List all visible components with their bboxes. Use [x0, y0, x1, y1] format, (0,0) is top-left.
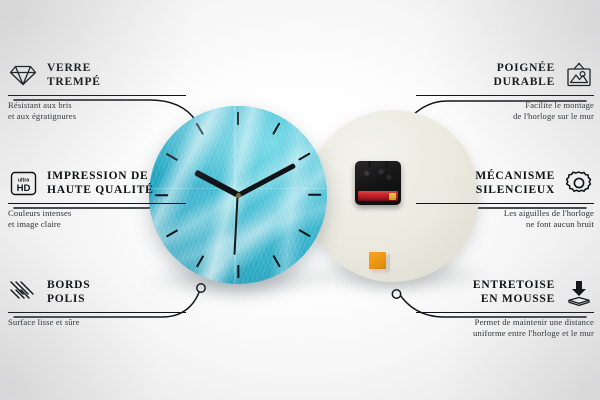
feature-description: Les aiguilles de l'horloge ne font aucun… [416, 208, 594, 230]
feature-header: POIGNÉE DURABLE [416, 58, 594, 92]
feature-title-line2: SILENCIEUX [476, 184, 555, 196]
feature-title-line1: ENTRETOISE [473, 279, 555, 291]
feature-title-line2: POLIS [47, 293, 85, 305]
feature-verre-trempe: VERRE TREMPÉ Résistant aux bris et aux é… [8, 58, 186, 122]
feature-header: BORDS POLIS [8, 275, 186, 309]
gear-icon [564, 168, 594, 198]
feature-description: Surface lisse et sûre [8, 317, 186, 328]
feature-divider [416, 312, 594, 313]
feature-title-line2: HAUTE QUALITÉ [47, 184, 154, 196]
feature-desc-line2: de l'horloge sur le mur [513, 111, 594, 121]
feature-desc-line1: Résistant aux bris [8, 100, 72, 110]
polished-edges-icon [8, 277, 38, 307]
foam-spacer [369, 252, 386, 269]
feature-bords-polis: BORDS POLIS Surface lisse et sûre [8, 275, 186, 328]
feature-poignee-durable: POIGNÉE DURABLE Facilite le montage de l… [416, 58, 594, 122]
clock-mechanism [355, 161, 401, 205]
feature-title-line1: IMPRESSION DE [47, 170, 148, 182]
feature-title-line1: BORDS [47, 279, 90, 291]
feature-desc-line2: et aux égratignures [8, 111, 76, 121]
hands-center-cap [236, 193, 241, 198]
feature-title: ENTRETOISE EN MOUSSE [473, 278, 555, 306]
feature-title-line2: DURABLE [494, 76, 555, 88]
feature-impression-hd: ultra HD IMPRESSION DE HAUTE QUALITÉ Cou… [8, 166, 186, 230]
feature-title: POIGNÉE DURABLE [494, 61, 555, 89]
feature-desc-line2: et image claire [8, 219, 61, 229]
feature-desc-line1: Permet de maintenir une distance [475, 317, 594, 327]
diamond-icon [8, 60, 38, 90]
foam-spacer-icon [564, 277, 594, 307]
feature-description: Permet de maintenir une distance uniform… [416, 317, 594, 339]
feature-desc-line1: Les aiguilles de l'horloge [504, 208, 594, 218]
feature-title-line1: POIGNÉE [497, 62, 555, 74]
battery [358, 191, 398, 201]
feature-title: MÉCANISME SILENCIEUX [475, 169, 555, 197]
feature-divider [416, 95, 594, 96]
feature-title-line2: EN MOUSSE [481, 293, 555, 305]
feature-divider [8, 312, 186, 313]
feature-divider [416, 203, 594, 204]
ultra-hd-icon: ultra HD [8, 168, 38, 198]
feature-title: IMPRESSION DE HAUTE QUALITÉ [47, 169, 154, 197]
feature-title-line2: TREMPÉ [47, 76, 101, 88]
feature-title: BORDS POLIS [47, 278, 90, 306]
feature-description: Résistant aux bris et aux égratignures [8, 100, 186, 122]
feature-mecanisme-silencieux: MÉCANISME SILENCIEUX Les aiguilles de l'… [416, 166, 594, 230]
mechanism-detail [360, 167, 394, 183]
hour-tick [237, 265, 239, 278]
feature-desc-line1: Surface lisse et sûre [8, 317, 80, 327]
infographic-canvas: VERRE TREMPÉ Résistant aux bris et aux é… [0, 0, 600, 400]
svg-text:HD: HD [16, 183, 30, 194]
feature-desc-line1: Facilite le montage [525, 100, 594, 110]
feature-header: ultra HD IMPRESSION DE HAUTE QUALITÉ [8, 166, 186, 200]
feature-header: VERRE TREMPÉ [8, 58, 186, 92]
feature-title: VERRE TREMPÉ [47, 61, 101, 89]
feature-title-line1: MÉCANISME [475, 170, 555, 182]
feature-desc-line2: uniforme entre l'horloge et le mur [473, 328, 594, 338]
feature-desc-line2: ne font aucun bruit [526, 219, 594, 229]
feature-description: Couleurs intenses et image claire [8, 208, 186, 230]
feature-description: Facilite le montage de l'horloge sur le … [416, 100, 594, 122]
hanging-frame-icon [564, 60, 594, 90]
feature-entretoise-mousse: ENTRETOISE EN MOUSSE Permet de maintenir… [416, 275, 594, 339]
feature-desc-line1: Couleurs intenses [8, 208, 71, 218]
feature-divider [8, 203, 186, 204]
feature-title-line1: VERRE [47, 62, 91, 74]
feature-header: MÉCANISME SILENCIEUX [416, 166, 594, 200]
feature-header: ENTRETOISE EN MOUSSE [416, 275, 594, 309]
feature-divider [8, 95, 186, 96]
